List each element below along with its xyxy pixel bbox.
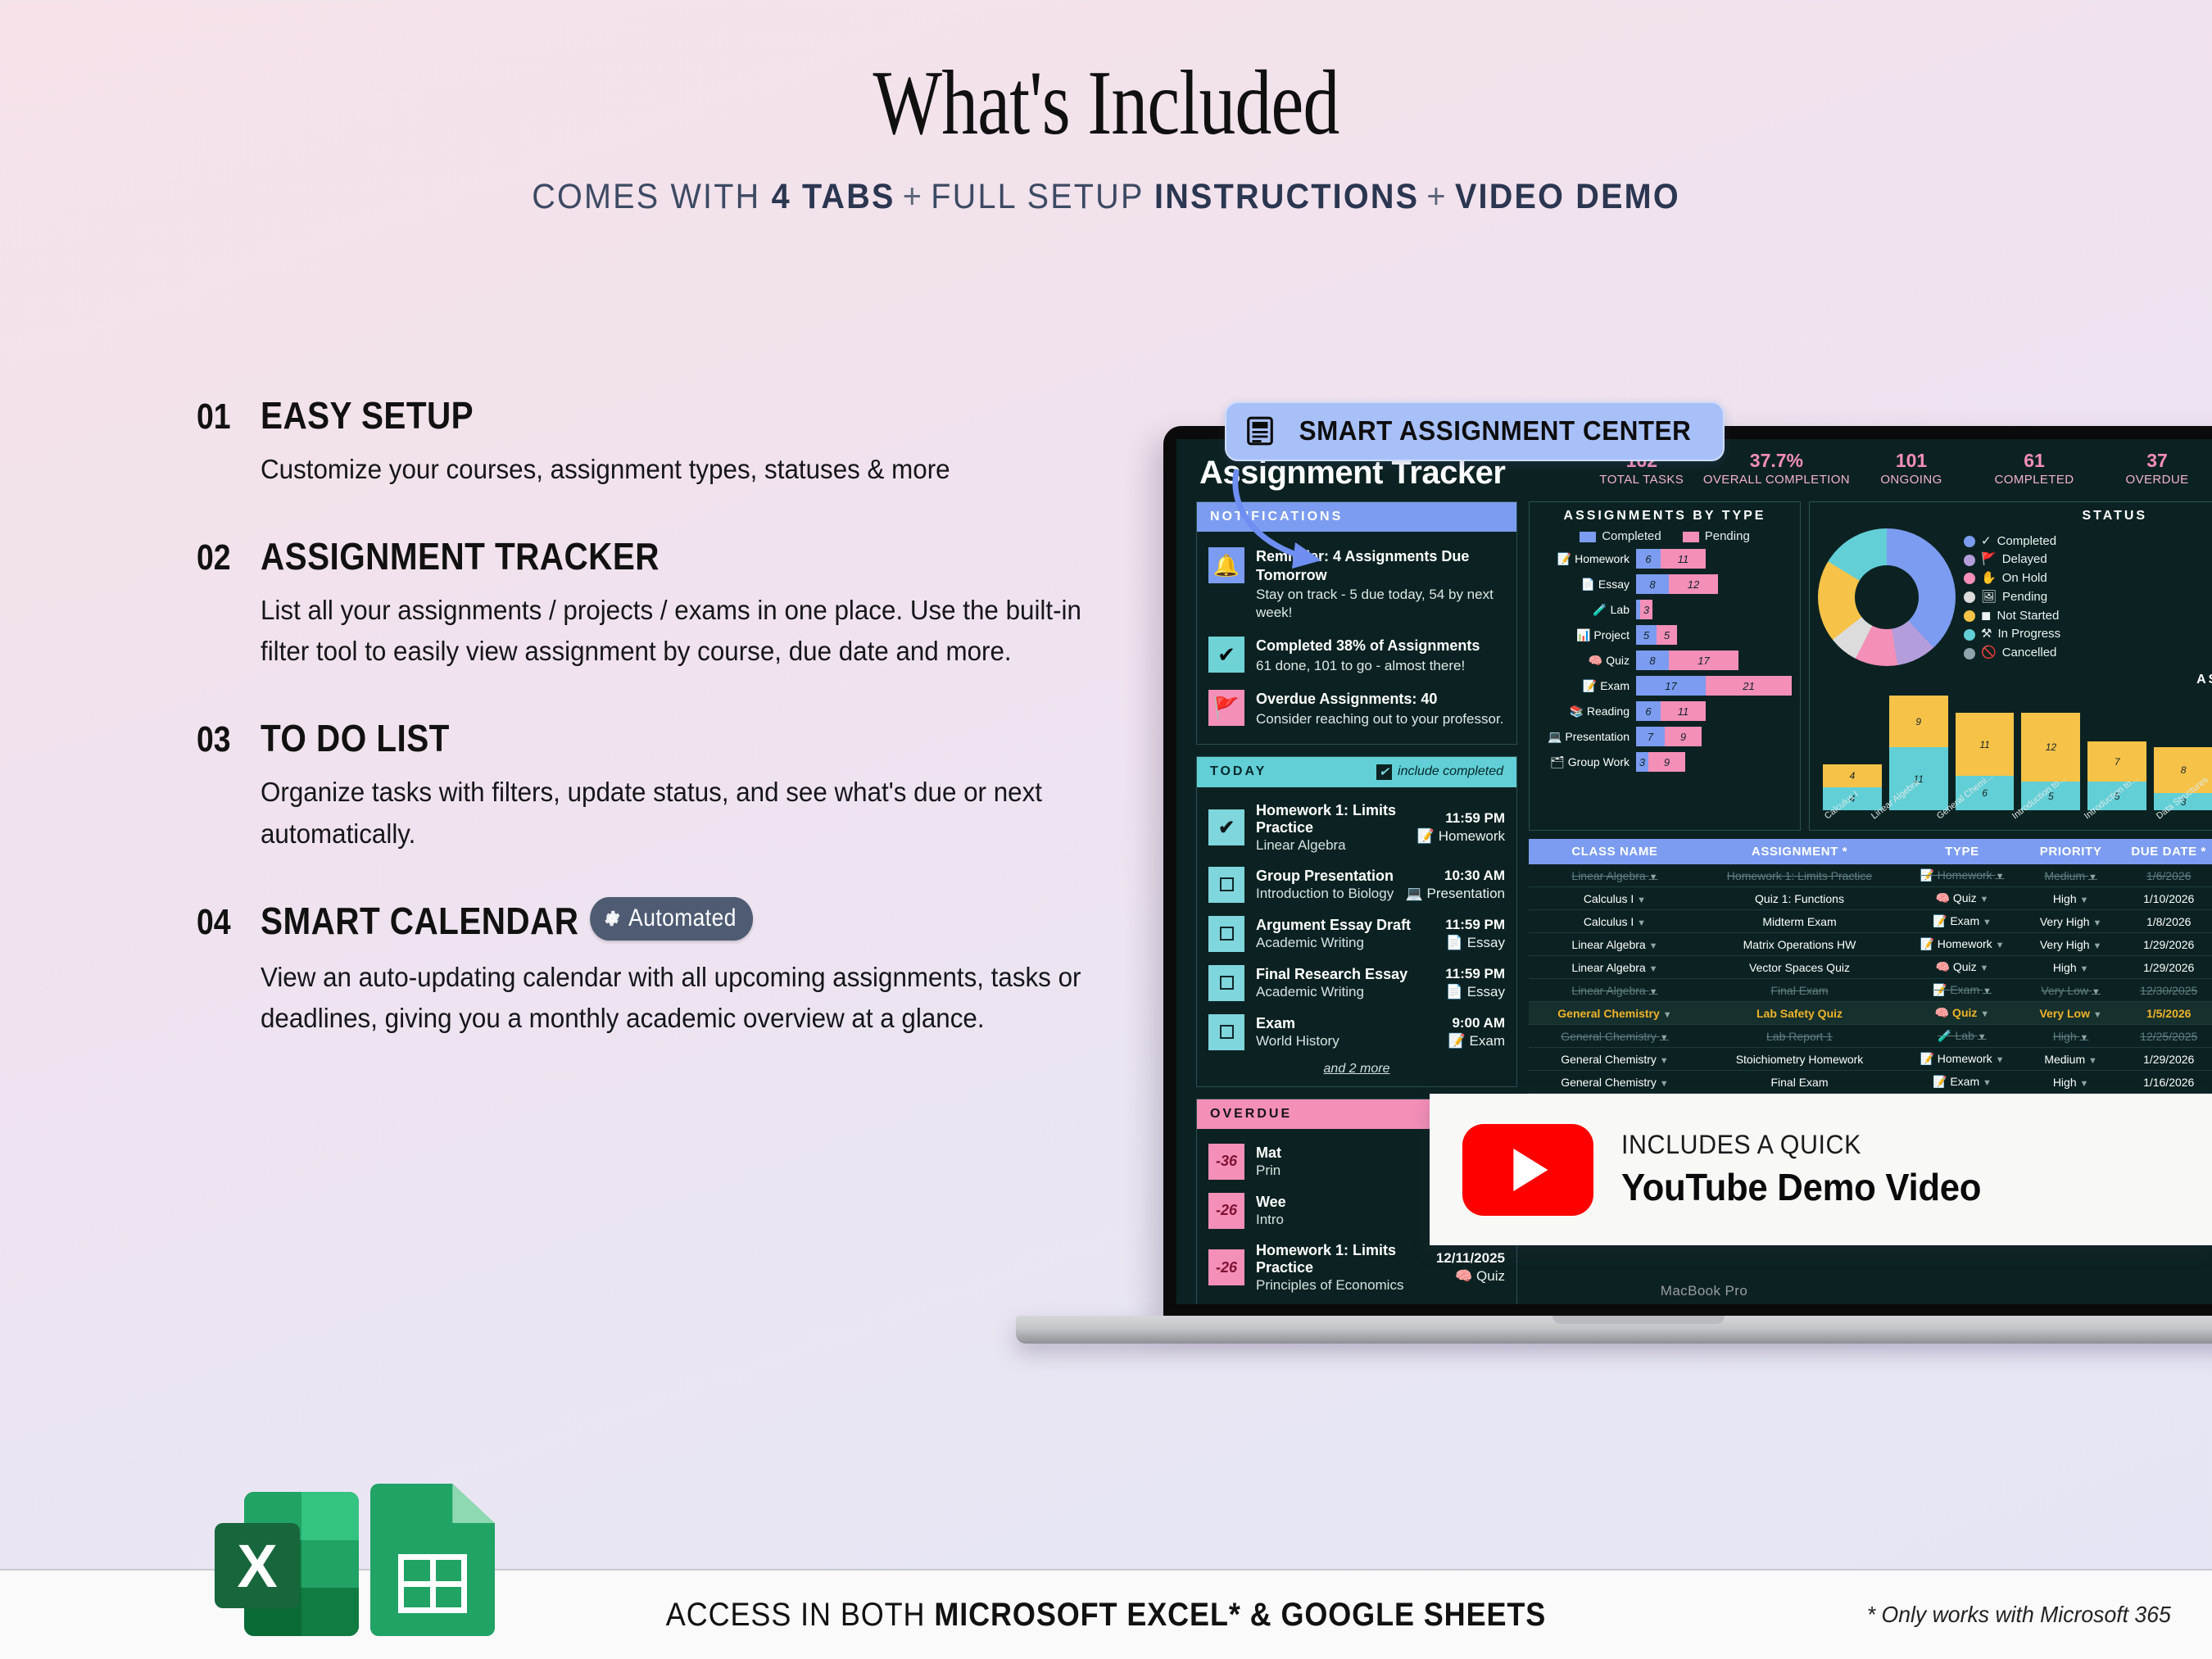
- chevron-down-icon[interactable]: ▼: [2080, 1079, 2089, 1089]
- feature-list: 01 EASY SETUP Customize your courses, as…: [197, 393, 1147, 1039]
- task-checkbox[interactable]: [1208, 867, 1244, 903]
- youtube-demo-card[interactable]: INCLUDES A QUICK YouTube Demo Video: [1430, 1094, 2212, 1245]
- bar-segment-completed: 17: [1636, 676, 1706, 696]
- cell-class-name: Linear Algebra ▼: [1529, 933, 1701, 956]
- cell-assignment: Lab Safety Quiz: [1701, 1002, 1898, 1025]
- laptop-base: [1016, 1316, 2212, 1344]
- bar-track: 8 12: [1636, 574, 1718, 594]
- bar-track: 5 5: [1636, 625, 1677, 645]
- bar-track: 8 17: [1636, 650, 1738, 670]
- bar-label: 📄 Essay: [1538, 578, 1630, 592]
- feature-description: Customize your courses, assignment types…: [261, 449, 1103, 490]
- cell-due-date: 1/10/2026: [2115, 887, 2212, 910]
- task-type: 📄 Essay: [1445, 984, 1505, 1000]
- task-text: Final Research Essay Academic Writing: [1256, 966, 1434, 1000]
- chevron-down-icon[interactable]: ▼: [2088, 1056, 2097, 1066]
- cell-priority: Medium ▼: [2026, 864, 2116, 887]
- bar-segment-pending: 11: [1661, 701, 1706, 721]
- chart-title-by-type: ASSIGNMENTS BY TYPE: [1538, 509, 1792, 524]
- bar-label: 🧪 Lab: [1538, 603, 1630, 617]
- legend-entry: Completed: [1580, 529, 1661, 543]
- task-course: Introduction to Biology: [1256, 886, 1394, 902]
- google-sheets-logo: [370, 1484, 495, 1636]
- cell-due-date: 12/25/2025: [2115, 1025, 2212, 1048]
- cell-priority: Very High ▼: [2026, 933, 2116, 956]
- bar-track: 6 11: [1636, 549, 1706, 569]
- notification-text: Overdue Assignments: 40 Consider reachin…: [1256, 690, 1505, 728]
- stat-label: COMPLETED: [1973, 473, 2096, 487]
- feature-description: List all your assignments / projects / e…: [261, 590, 1103, 672]
- task-time: 11:59 PM: [1445, 917, 1505, 933]
- cell-assignment: Lab Report 1: [1701, 1025, 1898, 1048]
- table-row[interactable]: General Chemistry ▼ Lab Report 1 🧪 Lab ▼…: [1529, 1025, 2212, 1048]
- stat-value: 37.7%: [1703, 451, 1850, 471]
- today-item[interactable]: Final Research Essay Academic Writing 11…: [1208, 959, 1505, 1008]
- feature-title: TO DO LIST: [261, 716, 450, 760]
- column-segment-pending: 7: [2087, 741, 2146, 782]
- cell-due-date: 1/29/2026: [2115, 1048, 2212, 1071]
- automated-badge: Automated: [591, 897, 754, 941]
- task-title: Exam: [1256, 1015, 1437, 1032]
- feature-description: View an auto-updating calendar with all …: [261, 957, 1103, 1039]
- bar-segment-pending: 3: [1640, 600, 1652, 619]
- youtube-line2: YouTube Demo Video: [1621, 1165, 1981, 1209]
- task-time: 9:00 AM: [1448, 1015, 1505, 1031]
- table-header-row: CLASS NAMEASSIGNMENT *TYPEPRIORITYDUE DA…: [1529, 839, 2212, 864]
- bar-row: 💻 Presentation 7 9: [1538, 727, 1792, 746]
- bar-segment-pending: 9: [1665, 727, 1702, 746]
- bar-row: 🧠 Quiz 8 17: [1538, 650, 1792, 670]
- feature-number: 04: [197, 902, 233, 943]
- chevron-down-icon[interactable]: ▼: [2080, 964, 2089, 974]
- task-course: World History: [1256, 1033, 1437, 1049]
- task-type: 💻 Presentation: [1406, 886, 1505, 902]
- page-title: What's Included: [221, 0, 1991, 152]
- status-label: In Progress: [1997, 625, 2060, 644]
- subtitle-part: INSTRUCTIONS: [1154, 177, 1419, 216]
- unchecked-box-icon: [1220, 1025, 1234, 1039]
- include-completed-label: include completed: [1398, 764, 1503, 779]
- task-checkbox[interactable]: ✔: [1208, 809, 1244, 845]
- column: 7 5: [2087, 741, 2146, 810]
- feature-3: 03 TO DO LIST Organize tasks with filter…: [197, 716, 1147, 854]
- cell-priority: Medium ▼: [2026, 1048, 2116, 1071]
- task-title: Group Presentation: [1256, 868, 1394, 885]
- donut-wrap: ✓Completed🚩Delayed✋On Hold🖼Pending◼Not S…: [1818, 528, 2212, 666]
- chevron-down-icon[interactable]: ▼: [2092, 918, 2101, 928]
- document-icon: [1244, 415, 1276, 447]
- task-time: 11:59 PM: [1417, 810, 1505, 827]
- include-completed-toggle[interactable]: ✔ include completed: [1376, 764, 1503, 780]
- notification-sub: Stay on track - 5 due today, 54 by next …: [1256, 586, 1505, 622]
- task-meta: 9:00 AM 📝 Exam: [1448, 1015, 1505, 1049]
- feature-heading: 02 ASSIGNMENT TRACKER: [197, 534, 1147, 578]
- feature-heading: 03 TO DO LIST: [197, 716, 1147, 760]
- status-legend-item: ⚒In Progress: [1964, 625, 2060, 644]
- bar-rows: 📝 Homework 6 11 📄 Essay 8 12 🧪 Lab 3 📊 P…: [1538, 549, 1792, 772]
- table-row[interactable]: Linear Algebra ▼ Homework 1: Limits Prac…: [1529, 864, 2212, 887]
- task-checkbox[interactable]: [1208, 1014, 1244, 1050]
- status-label: Delayed: [2002, 551, 2047, 569]
- unchecked-box-icon: [1220, 976, 1234, 990]
- overdue-days-badge: -26: [1208, 1193, 1244, 1229]
- cell-type: 📝 Homework ▼: [1898, 933, 2026, 956]
- cell-class-name: General Chemistry ▼: [1529, 1071, 1701, 1094]
- footer-note: * Only works with Microsoft 365: [1867, 1602, 2171, 1628]
- chevron-down-icon[interactable]: ▼: [1649, 941, 1658, 951]
- bar-track: 3 9: [1636, 752, 1685, 772]
- cell-class-name: General Chemistry ▼: [1529, 1048, 1701, 1071]
- overdue-meta: 12/11/2025 🧠 Quiz: [1436, 1250, 1505, 1285]
- bar-segment-pending: 21: [1706, 676, 1792, 696]
- status-legend-item: 🖼Pending: [1964, 588, 2060, 607]
- cell-type: 📝 Exam ▼: [1898, 910, 2026, 933]
- cell-type: 📝 Homework ▼: [1898, 1048, 2026, 1071]
- table-column-header[interactable]: PRIORITY: [2026, 839, 2116, 864]
- task-time: 10:30 AM: [1406, 868, 1505, 884]
- bar-track: 7 9: [1636, 727, 1702, 746]
- sheets-fold: [452, 1484, 495, 1523]
- status-legend-item: 🚫Cancelled: [1964, 644, 2060, 663]
- status-glyph: ✋: [1981, 569, 1997, 588]
- bar-segment-completed: 3: [1636, 752, 1648, 772]
- feature-1: 01 EASY SETUP Customize your courses, as…: [197, 393, 1147, 490]
- status-label: Not Started: [1997, 607, 2059, 626]
- stat-label: TOTAL TASKS: [1580, 473, 1703, 487]
- app-logos: X: [215, 1484, 495, 1636]
- bar-track: 6 11: [1636, 701, 1706, 721]
- table-column-header[interactable]: ASSIGNMENT *: [1701, 839, 1898, 864]
- status-donut-chart: STATUS ✓Completed🚩Delayed✋On Hold🖼Pendin…: [1809, 501, 2212, 831]
- chevron-down-icon[interactable]: ▼: [1980, 895, 1989, 904]
- table-row[interactable]: General Chemistry ▼ Lab Safety Quiz 🧠 Qu…: [1529, 1002, 2212, 1025]
- excel-x-glyph: X: [215, 1523, 300, 1608]
- chevron-down-icon[interactable]: ▼: [1996, 941, 2005, 950]
- bar-label: 📚 Reading: [1538, 705, 1630, 718]
- youtube-line1: INCLUDES A QUICK: [1621, 1130, 1981, 1160]
- task-text: Homework 1: Limits Practice Linear Algeb…: [1256, 802, 1406, 854]
- youtube-play-icon: [1462, 1124, 1593, 1216]
- bar-row: 📝 Homework 6 11: [1538, 549, 1792, 569]
- feature-4: 04 SMART CALENDARAutomated View an auto-…: [197, 899, 1147, 1039]
- notification-title: Overdue Assignments: 40: [1256, 690, 1505, 709]
- chevron-down-icon[interactable]: ▼: [1983, 918, 1992, 927]
- chevron-down-icon[interactable]: ▼: [1660, 1056, 1669, 1066]
- status-legend-item: ✓Completed: [1964, 533, 2060, 551]
- status-legend-item: ✋On Hold: [1964, 569, 2060, 588]
- cell-assignment: Matrix Operations HW: [1701, 933, 1898, 956]
- chart-title-by-class: ASSIGNMENTS BY CLASS: [1818, 673, 2212, 687]
- unchecked-box-icon: [1220, 927, 1234, 941]
- smart-assignment-center-callout[interactable]: SMART ASSIGNMENT CENTER: [1225, 401, 1725, 461]
- unchecked-box-icon: [1220, 877, 1234, 891]
- cell-due-date: 1/8/2026: [2115, 910, 2212, 933]
- table-row[interactable]: Calculus I ▼ Quiz 1: Functions 🧠 Quiz ▼ …: [1529, 887, 2212, 910]
- microsoft-excel-logo: X: [215, 1492, 359, 1636]
- status-label: On Hold: [2002, 569, 2047, 588]
- cell-type: 🧠 Quiz ▼: [1898, 1002, 2026, 1025]
- cell-priority: Very Low ▼: [2026, 1002, 2116, 1025]
- bar-segment-pending: 9: [1648, 752, 1685, 772]
- today-item[interactable]: Argument Essay Draft Academic Writing 11…: [1208, 909, 1505, 959]
- check-icon: ✔: [1218, 816, 1235, 840]
- sheets-grid-icon: [398, 1554, 467, 1613]
- chevron-down-icon[interactable]: ▼: [2092, 987, 2101, 997]
- cell-due-date: 12/30/2025: [2115, 979, 2212, 1002]
- chevron-down-icon[interactable]: ▼: [1978, 1032, 1987, 1042]
- cell-class-name: General Chemistry ▼: [1529, 1002, 1701, 1025]
- today-item[interactable]: Exam World History 9:00 AM 📝 Exam: [1208, 1008, 1505, 1057]
- cell-priority: High ▼: [2026, 1071, 2116, 1094]
- table-column-header[interactable]: CLASS NAME: [1529, 839, 1701, 864]
- bar-label: 🧠 Quiz: [1538, 654, 1630, 668]
- stat-label: OVERDUE: [2096, 473, 2212, 487]
- task-meta: 10:30 AM 💻 Presentation: [1406, 868, 1505, 902]
- stat-value: 37: [2096, 451, 2212, 471]
- bar-segment-completed: 8: [1636, 650, 1669, 670]
- chevron-down-icon[interactable]: ▼: [1660, 1033, 1669, 1043]
- subtitle-part: VIDEO DEMO: [1455, 177, 1680, 216]
- bar-segment-completed: 6: [1636, 549, 1661, 569]
- bar-segment-completed: 5: [1636, 625, 1657, 645]
- stat-item: 61 COMPLETED: [1973, 451, 2096, 487]
- task-course: Academic Writing: [1256, 935, 1434, 951]
- chevron-down-icon[interactable]: ▼: [2092, 941, 2101, 951]
- cell-class-name: Linear Algebra ▼: [1529, 979, 1701, 1002]
- bar-track: 17 21: [1636, 676, 1792, 696]
- notification-sub: Consider reaching out to your professor.: [1256, 710, 1505, 728]
- subtitle-separator: +: [895, 177, 931, 216]
- status-legend-item: ◼Not Started: [1964, 607, 2060, 626]
- cell-priority: High ▼: [2026, 887, 2116, 910]
- table-row[interactable]: Linear Algebra ▼ Final Exam 📝 Exam ▼ Ver…: [1529, 979, 2212, 1002]
- bar-label: 📝 Homework: [1538, 552, 1630, 566]
- overdue-days-badge: -36: [1208, 1144, 1244, 1180]
- status-color-dot: [1964, 592, 1975, 603]
- column-segment-pending: 9: [1889, 696, 1948, 747]
- chart-title-status: STATUS: [1818, 509, 2212, 524]
- subtitle-part: FULL SETUP: [931, 177, 1154, 216]
- overdue-days-badge: -26: [1208, 1249, 1244, 1285]
- overdue-date: 12/11/2025: [1436, 1250, 1505, 1267]
- bar-row: 📄 Essay 8 12: [1538, 574, 1792, 594]
- task-text: Exam World History: [1256, 1015, 1437, 1049]
- feature-description: Organize tasks with filters, update stat…: [261, 772, 1103, 854]
- cell-assignment: Vector Spaces Quiz: [1701, 956, 1898, 979]
- task-course: Linear Algebra: [1256, 837, 1406, 854]
- today-list: ✔ Homework 1: Limits Practice Linear Alg…: [1197, 787, 1516, 1086]
- check-icon: ✔: [1208, 637, 1244, 673]
- device-label: MacBook Pro: [1163, 1283, 2212, 1299]
- chevron-down-icon[interactable]: ▼: [1660, 1079, 1669, 1089]
- task-meta: 11:59 PM 📄 Essay: [1445, 966, 1505, 1000]
- cell-type: 📝 Exam ▼: [1898, 979, 2026, 1002]
- notification-text: Completed 38% of Assignments 61 done, 10…: [1256, 637, 1505, 675]
- task-text: Group Presentation Introduction to Biolo…: [1256, 868, 1394, 902]
- bar-row: 🧪 Lab 3: [1538, 600, 1792, 619]
- status-label: Cancelled: [2002, 644, 2057, 663]
- table-row[interactable]: General Chemistry ▼ Final Exam 📝 Exam ▼ …: [1529, 1071, 2212, 1094]
- chevron-down-icon[interactable]: ▼: [1649, 987, 1658, 997]
- stat-value: 61: [1973, 451, 2096, 471]
- cell-due-date: 1/16/2026: [2115, 1071, 2212, 1094]
- chevron-down-icon[interactable]: ▼: [1637, 895, 1646, 905]
- notification-title: Completed 38% of Assignments: [1256, 637, 1505, 655]
- chevron-down-icon[interactable]: ▼: [1649, 964, 1658, 974]
- status-glyph: ⚒: [1981, 625, 1992, 644]
- by-class-labels: Calculus ILinear AlgebraGeneral Chemi...…: [1818, 814, 2212, 823]
- cell-assignment: Final Exam: [1701, 1071, 1898, 1094]
- table-row[interactable]: General Chemistry ▼ Stoichiometry Homewo…: [1529, 1048, 2212, 1071]
- chevron-down-icon[interactable]: ▼: [1649, 873, 1658, 882]
- cell-type: 🧠 Quiz ▼: [1898, 887, 2026, 910]
- feature-heading: 01 EASY SETUP: [197, 393, 1147, 437]
- cell-class-name: Linear Algebra ▼: [1529, 864, 1701, 887]
- chevron-down-icon[interactable]: ▼: [1980, 963, 1989, 973]
- status-glyph: 🚫: [1981, 644, 1997, 663]
- today-item[interactable]: ✔ Homework 1: Limits Practice Linear Alg…: [1208, 796, 1505, 860]
- today-header: TODAY ✔ include completed: [1197, 757, 1516, 787]
- cell-assignment: Midterm Exam: [1701, 910, 1898, 933]
- notification-sub: 61 done, 101 to go - almost there!: [1256, 657, 1505, 675]
- chevron-down-icon[interactable]: ▼: [1996, 872, 2005, 882]
- notification-item[interactable]: ✔ Completed 38% of Assignments 61 done, …: [1208, 629, 1505, 682]
- cell-priority: High ▼: [2026, 1025, 2116, 1048]
- chevron-down-icon[interactable]: ▼: [2080, 895, 2089, 905]
- chevron-down-icon[interactable]: ▼: [1663, 1010, 1672, 1020]
- column-segment-pending: 12: [2021, 713, 2080, 782]
- cell-type: 📝 Homework ▼: [1898, 864, 2026, 887]
- task-checkbox[interactable]: [1208, 965, 1244, 1001]
- legend-entry: Pending: [1683, 529, 1750, 543]
- chevron-down-icon[interactable]: ▼: [1637, 918, 1646, 928]
- stat-item: 37 OVERDUE: [2096, 451, 2212, 487]
- bar-label: 📝 Exam: [1538, 679, 1630, 693]
- bar-segment-pending: 5: [1657, 625, 1677, 645]
- laptop-notch: [1552, 1316, 1725, 1324]
- stat-item: 37.7% OVERALL COMPLETION: [1703, 451, 1850, 487]
- cell-class-name: Linear Algebra ▼: [1529, 956, 1701, 979]
- chevron-down-icon[interactable]: ▼: [2093, 1010, 2102, 1020]
- overdue-title: Homework 1: Limits Practice: [1256, 1242, 1425, 1276]
- chevron-down-icon[interactable]: ▼: [1980, 1009, 1989, 1019]
- feature-number: 03: [197, 719, 233, 760]
- today-item[interactable]: Group Presentation Introduction to Biolo…: [1208, 860, 1505, 909]
- callout-arrow: [1225, 467, 1389, 582]
- bar-track: 3: [1636, 600, 1652, 619]
- task-checkbox[interactable]: [1208, 916, 1244, 952]
- cell-class-name: Calculus I ▼: [1529, 910, 1701, 933]
- feature-number: 01: [197, 397, 233, 437]
- column: 4 4: [1823, 764, 1882, 810]
- cell-assignment: Final Exam: [1701, 979, 1898, 1002]
- bar-label: 🗂 Group Work: [1538, 755, 1630, 769]
- feature-title: SMART CALENDARAutomated: [261, 899, 753, 945]
- today-label: TODAY: [1210, 764, 1267, 779]
- cell-class-name: General Chemistry ▼: [1529, 1025, 1701, 1048]
- task-type: 📝 Exam: [1448, 1033, 1505, 1049]
- subtitle-part: 4 TABS: [772, 177, 895, 216]
- donut: [1818, 528, 1956, 666]
- chevron-down-icon[interactable]: ▼: [2080, 1033, 2089, 1043]
- task-meta: 11:59 PM 📄 Essay: [1445, 917, 1505, 951]
- cell-assignment: Quiz 1: Functions: [1701, 887, 1898, 910]
- feature-number: 02: [197, 537, 233, 578]
- bar-row: 📚 Reading 6 11: [1538, 701, 1792, 721]
- bar-row: 📊 Project 5 5: [1538, 625, 1792, 645]
- stat-item: 101 ONGOING: [1850, 451, 1973, 487]
- bar-segment-pending: 17: [1669, 650, 1738, 670]
- chevron-down-icon[interactable]: ▼: [1983, 1078, 1992, 1088]
- task-time: 11:59 PM: [1445, 966, 1505, 982]
- feature-title: EASY SETUP: [261, 393, 474, 437]
- task-title: Homework 1: Limits Practice: [1256, 802, 1406, 836]
- checkbox-icon: ✔: [1376, 764, 1392, 780]
- cell-due-date: 1/29/2026: [2115, 933, 2212, 956]
- notification-item[interactable]: 🚩 Overdue Assignments: 40 Consider reach…: [1208, 682, 1505, 736]
- table-row[interactable]: Linear Algebra ▼ Vector Spaces Quiz 🧠 Qu…: [1529, 956, 2212, 979]
- chart-legend-by-type: CompletedPending: [1538, 529, 1792, 543]
- bar-label: 💻 Presentation: [1538, 730, 1630, 744]
- cell-type: 🧪 Lab ▼: [1898, 1025, 2026, 1048]
- cell-type: 🧠 Quiz ▼: [1898, 956, 2026, 979]
- and-more-link[interactable]: and 2 more: [1208, 1057, 1505, 1078]
- subtitle-separator: +: [1419, 177, 1455, 216]
- gear-icon: [603, 908, 622, 929]
- cell-assignment: Homework 1: Limits Practice: [1701, 864, 1898, 887]
- bar-segment-completed: 7: [1636, 727, 1665, 746]
- cell-class-name: Calculus I ▼: [1529, 887, 1701, 910]
- callout-label: SMART ASSIGNMENT CENTER: [1299, 415, 1692, 446]
- status-label: Pending: [2002, 588, 2047, 607]
- cell-priority: Very High ▼: [2026, 910, 2116, 933]
- chevron-down-icon[interactable]: ▼: [1996, 1055, 2005, 1065]
- chevron-down-icon[interactable]: ▼: [2088, 873, 2097, 882]
- bar-row: 📝 Exam 17 21: [1538, 676, 1792, 696]
- status-label: Completed: [1997, 533, 2057, 551]
- status-color-dot: [1964, 648, 1975, 660]
- footer-part: ACCESS IN BOTH: [666, 1597, 935, 1633]
- column-segment-pending: 11: [1956, 713, 2015, 776]
- cell-priority: Very Low ▼: [2026, 979, 2116, 1002]
- legend-swatch: [1580, 532, 1596, 542]
- task-course: Academic Writing: [1256, 984, 1434, 1000]
- bar-row: 🗂 Group Work 3 9: [1538, 752, 1792, 772]
- feature-2: 02 ASSIGNMENT TRACKER List all your assi…: [197, 534, 1147, 672]
- status-legend: ✓Completed🚩Delayed✋On Hold🖼Pending◼Not S…: [1964, 533, 2060, 664]
- status-glyph: ◼: [1981, 607, 1991, 626]
- cell-due-date: 1/29/2026: [2115, 956, 2212, 979]
- stat-label: OVERALL COMPLETION: [1703, 473, 1850, 487]
- table-column-header[interactable]: TYPE: [1898, 839, 2026, 864]
- column-segment-pending: 4: [1823, 764, 1882, 787]
- task-text: Argument Essay Draft Academic Writing: [1256, 917, 1434, 951]
- chevron-down-icon[interactable]: ▼: [1983, 986, 1992, 996]
- status-glyph: ✓: [1981, 533, 1992, 551]
- status-glyph: 🚩: [1981, 551, 1997, 569]
- bar-segment-pending: 12: [1669, 574, 1718, 594]
- by-class-columns: 4 4 9 11 11 6 12 5 7 5 8 3 9 4 9 3 9 3: [1818, 687, 2212, 810]
- bar-label: 📊 Project: [1538, 628, 1630, 642]
- table-column-header[interactable]: DUE DATE *: [2115, 839, 2212, 864]
- table-row[interactable]: Calculus I ▼ Midterm Exam 📝 Exam ▼ Very …: [1529, 910, 2212, 933]
- status-color-dot: [1964, 536, 1975, 547]
- task-title: Argument Essay Draft: [1256, 917, 1434, 934]
- status-color-dot: [1964, 610, 1975, 622]
- stat-value: 101: [1850, 451, 1973, 471]
- today-panel: TODAY ✔ include completed ✔ Homework 1: …: [1196, 756, 1517, 1087]
- table-row[interactable]: Linear Algebra ▼ Matrix Operations HW 📝 …: [1529, 933, 2212, 956]
